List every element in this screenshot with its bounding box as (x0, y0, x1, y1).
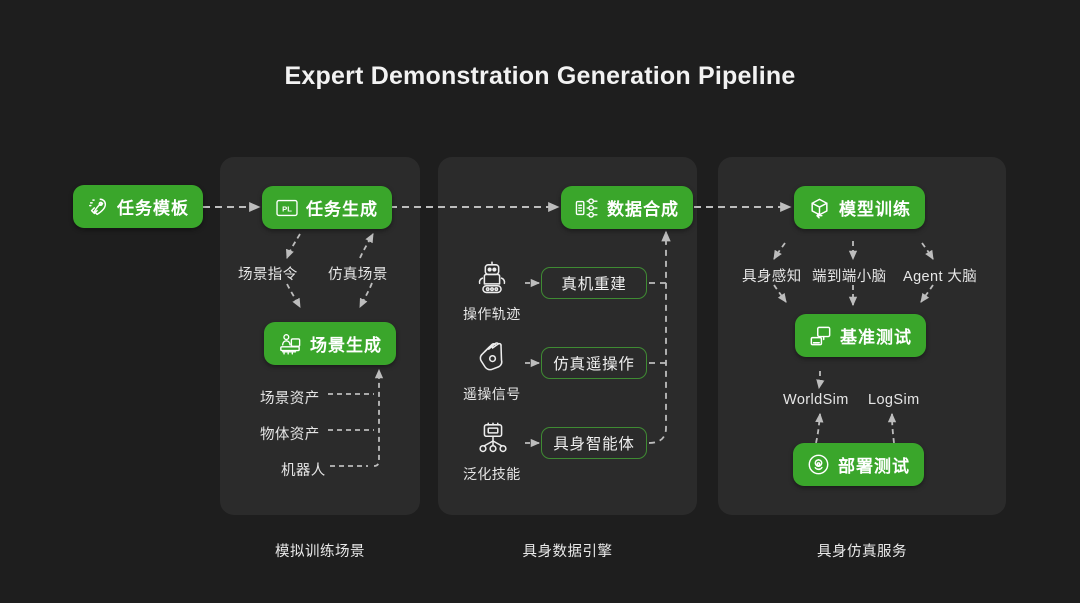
glove-icon (473, 341, 513, 381)
edge-label-sim-scene: 仿真场景 (328, 263, 388, 284)
box-embodied-agent[interactable]: 具身智能体 (541, 427, 647, 459)
stage-label-end-to-end-cerebellum: 端到端小脑 (812, 265, 887, 286)
pipeline-diagram: Expert Demonstration Generation Pipeline (0, 0, 1080, 603)
picto-label-operation-trajectory: 操作轨迹 (463, 304, 521, 324)
badge-model-training[interactable]: 模型训练 (794, 186, 925, 229)
badge-label: 任务模板 (117, 194, 189, 219)
stage-label-agent-brain: Agent 大脑 (903, 265, 977, 286)
cube-arrow-icon (808, 197, 831, 219)
benchmark-screen-icon (809, 325, 832, 347)
edge-label-scene-instruction: 场景指令 (238, 263, 298, 284)
panel-caption-embodied-simulation-service: 具身仿真服务 (718, 540, 1006, 561)
chip-network-icon (473, 421, 513, 461)
badge-task-template[interactable]: 任务模板 (73, 185, 203, 228)
sim-label-logsim: LogSim (868, 392, 920, 408)
badge-deployment-test[interactable]: 部署测试 (793, 443, 924, 486)
pl-box-icon: PL (276, 199, 298, 217)
svg-text:PL: PL (282, 204, 292, 213)
scene-robot-icon (278, 333, 302, 355)
asset-label-scene-assets: 场景资产 (260, 387, 320, 408)
asset-label-object-assets: 物体资产 (260, 423, 320, 444)
page-title: Expert Demonstration Generation Pipeline (0, 62, 1080, 91)
picto-label-teleop-signal: 遥操信号 (463, 384, 521, 404)
badge-label: 基准测试 (840, 323, 912, 348)
badge-benchmark-test[interactable]: 基准测试 (795, 314, 926, 357)
badge-label: 部署测试 (838, 452, 910, 477)
box-label: 具身智能体 (553, 432, 635, 454)
badge-data-synthesis[interactable]: 数据合成 (561, 186, 693, 229)
picto-label-generalization-skill: 泛化技能 (463, 464, 521, 484)
asset-label-robot: 机器人 (281, 459, 326, 480)
badge-scene-generation[interactable]: 场景生成 (264, 322, 396, 365)
badge-label: 任务生成 (306, 195, 378, 220)
panel-caption-embodied-data-engine: 具身数据引擎 (438, 540, 697, 561)
stage-label-embodied-perception: 具身感知 (742, 265, 802, 286)
robot-icon (472, 261, 512, 301)
badge-label: 场景生成 (310, 331, 382, 356)
sim-label-worldsim: WorldSim (783, 392, 849, 408)
data-sync-icon (575, 197, 599, 219)
badge-label: 模型训练 (839, 195, 911, 220)
box-label: 仿真遥操作 (553, 352, 635, 374)
rocket-icon (87, 196, 109, 218)
badge-task-generation[interactable]: PL 任务生成 (262, 186, 392, 229)
box-real-machine-reconstruction[interactable]: 真机重建 (541, 267, 647, 299)
panel-caption-simulation-training-scene: 模拟训练场景 (220, 540, 420, 561)
box-label: 真机重建 (561, 272, 626, 294)
box-simulated-teleoperation[interactable]: 仿真遥操作 (541, 347, 647, 379)
badge-label: 数据合成 (607, 195, 679, 220)
deploy-cycle-icon (807, 453, 830, 476)
